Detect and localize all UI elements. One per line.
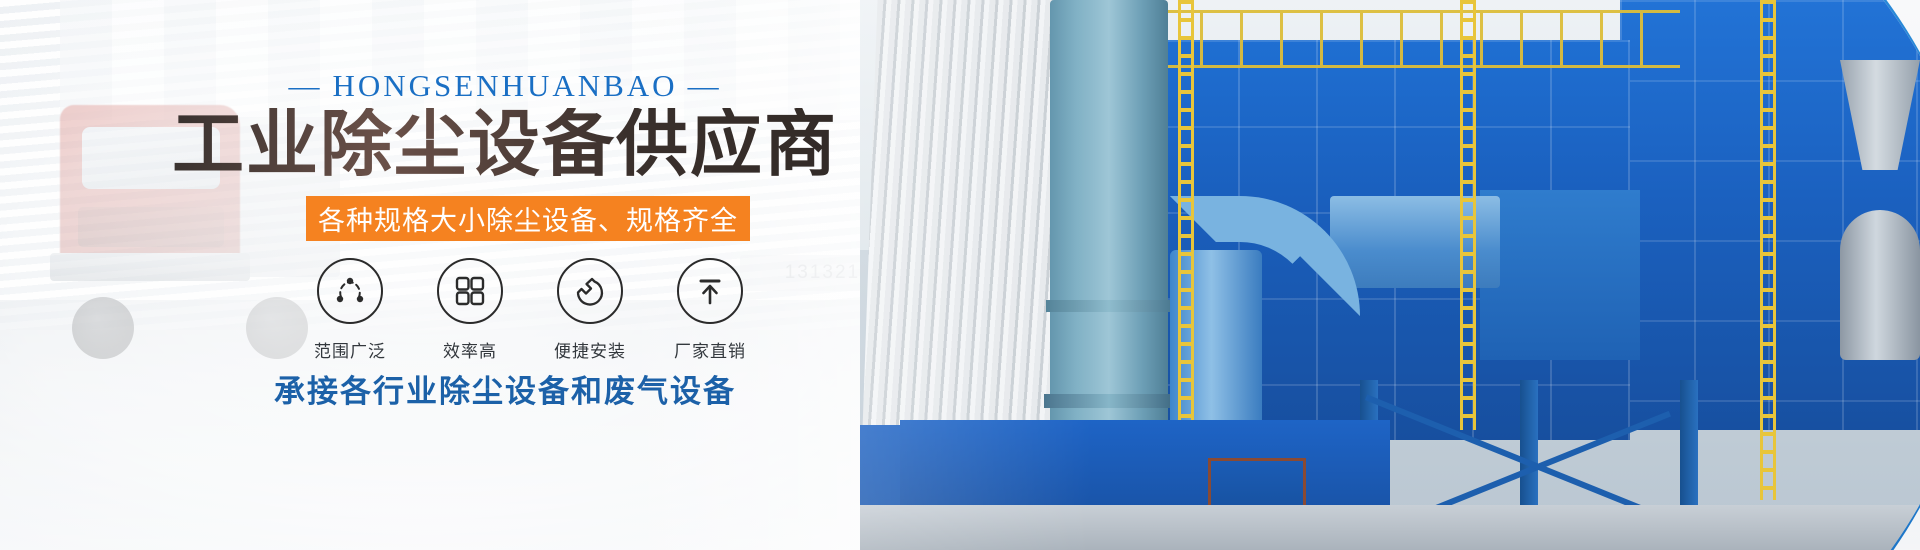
dust-collector-photo	[860, 0, 1920, 550]
feature-item-efficiency[interactable]: 效率高	[420, 258, 520, 362]
grid-squares-icon	[437, 258, 503, 324]
feature-label: 便捷安装	[540, 337, 640, 362]
subtitle-orange-bar: 各种规格大小除尘设备、规格齐全	[306, 196, 750, 241]
banner-headline: 工业除尘设备供应商	[0, 108, 1010, 184]
wrench-icon	[557, 258, 623, 324]
coverage-network-icon	[317, 258, 383, 324]
feature-label: 厂家直销	[660, 337, 760, 362]
subtitle-text: 各种规格大小除尘设备、规格齐全	[318, 199, 738, 238]
feature-item-factory-direct[interactable]: 厂家直销	[660, 258, 760, 362]
photo-arc-mask	[860, 0, 1920, 550]
feature-item-coverage[interactable]: 范围广泛	[300, 258, 400, 362]
banner-text-content: —HONGSENHUANBAO— 工业除尘设备供应商 各种规格大小除尘设备、规格…	[0, 0, 1010, 550]
eyebrow-line: —HONGSENHUANBAO—	[0, 68, 1010, 104]
arrow-up-ceiling-icon	[677, 258, 743, 324]
eyebrow-dash-left: —	[278, 68, 332, 104]
feature-item-installation[interactable]: 便捷安装	[540, 258, 640, 362]
eyebrow-text: HONGSENHUANBAO	[332, 68, 677, 103]
feature-list: 范围广泛 效率高	[300, 258, 760, 362]
banner-tagline: 承接各行业除尘设备和废气设备	[0, 366, 1010, 411]
equipment-photo-panel	[860, 0, 1920, 550]
photo-edge-shading	[860, 0, 1920, 550]
feature-label: 范围广泛	[300, 337, 400, 362]
eyebrow-dash-right: —	[678, 68, 732, 104]
hero-banner: 13132100	[0, 0, 1920, 550]
feature-label: 效率高	[420, 337, 520, 362]
